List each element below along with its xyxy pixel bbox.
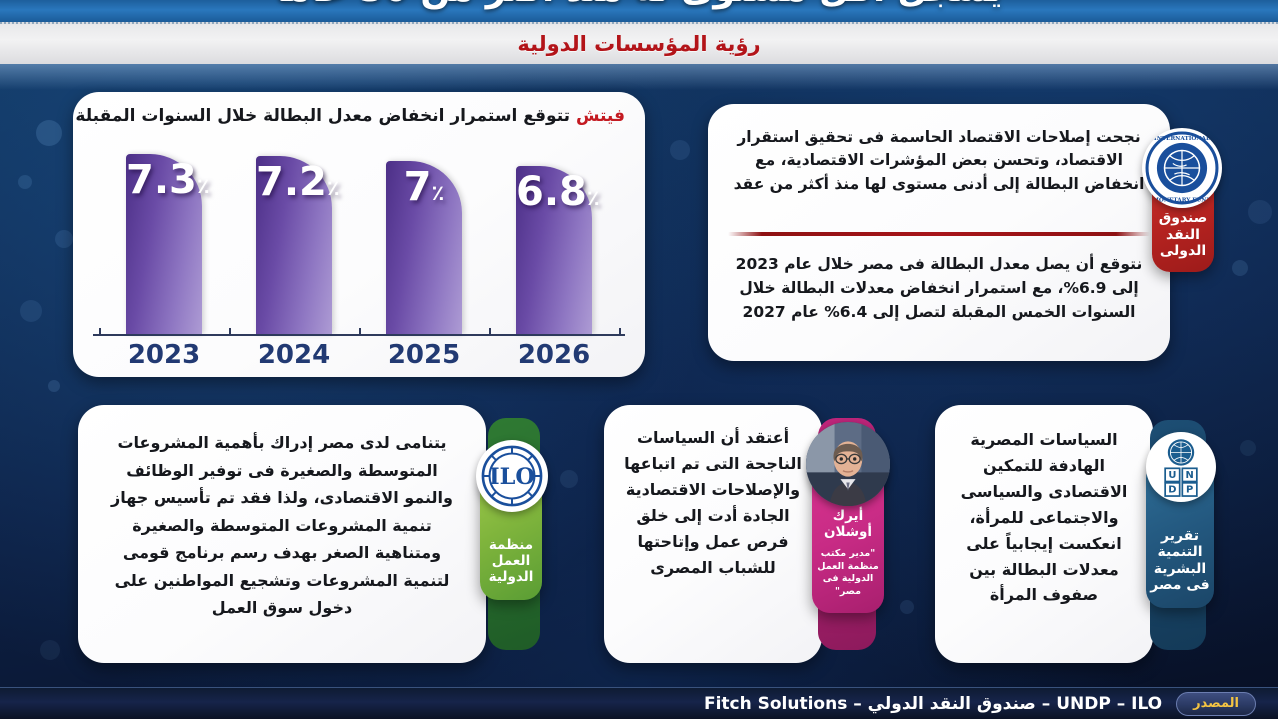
imf-divider [728,232,1150,236]
bar-rect: 6.8٪ [516,166,592,334]
axis-tick [489,328,491,336]
chart-heading-rest: تتوقع استمرار انخفاض معدل البطالة خلال ا… [75,106,576,126]
source-badge: المصدر [1176,692,1256,716]
bokeh-dot [900,600,914,614]
page-title: يسجل أقل مستوى له منذ أكثر من 30 عاماً [0,0,1278,10]
imf-logo: INTERNATIONAL MONETARY FUND [1142,128,1222,208]
chart-bar: 7٪ [386,161,462,334]
svg-text:P: P [1186,485,1193,496]
imf-statement-primary: نجحت إصلاحات الاقتصاد الحاسمة فى تحقيق ا… [730,126,1148,196]
chart-bar: 7.3٪ [126,154,202,334]
header-glow [0,64,1278,90]
axis-tick [359,328,361,336]
quote-statement: أعتقد أن السياسات الناجحة التى تم اتباعه… [620,425,806,580]
chart-heading: فيتش تتوقع استمرار انخفاض معدل البطالة خ… [93,106,625,126]
undp-panel-card: السياسات المصرية الهادفة للتمكين الاقتصا… [935,405,1153,663]
bar-value-label: 7.2٪ [256,162,332,202]
bokeh-dot [40,640,60,660]
bar-rect: 7.2٪ [256,156,332,334]
unemployment-chart-card: فيتش تتوقع استمرار انخفاض معدل البطالة خ… [73,92,645,377]
chart-year-label: 2026 [516,340,592,370]
bokeh-dot [55,230,73,248]
bokeh-dot [1232,260,1248,276]
axis-tick [619,328,621,336]
bar-chart-plot: 7.3٪7.2٪7٪6.8٪ [99,140,619,334]
bokeh-dot [48,380,60,392]
svg-text:ILO: ILO [489,464,535,490]
footer-source-bar: المصدر UNDP – ILO – صندوق النقد الدولي –… [0,687,1278,719]
chart-year-labels: 2023202420252026 [99,340,619,374]
axis-tick [229,328,231,336]
subtitle-band: رؤية المؤسسات الدولية [0,22,1278,64]
header-title-band: يسجل أقل مستوى له منذ أكثر من 30 عاماً [0,0,1278,22]
source-text: UNDP – ILO – صندوق النقد الدولي – Fitch … [704,694,1162,714]
undp-statement: السياسات المصرية الهادفة للتمكين الاقتصا… [951,427,1137,608]
avatar [806,422,890,506]
bar-value-label: 7٪ [386,167,462,207]
svg-text:U: U [1168,470,1176,481]
quote-panel-card: أعتقد أن السياسات الناجحة التى تم اتباعه… [604,405,822,663]
bokeh-dot [560,470,578,488]
chart-year-label: 2024 [256,340,332,370]
page-subtitle: رؤية المؤسسات الدولية [517,32,760,56]
bokeh-dot [18,175,32,189]
axis-tick [99,328,101,336]
chart-bar: 7.2٪ [256,156,332,334]
bar-value-label: 6.8٪ [516,172,592,212]
imf-panel-card: نجحت إصلاحات الاقتصاد الحاسمة فى تحقيق ا… [708,104,1170,361]
bar-rect: 7٪ [386,161,462,334]
ilo-logo: ILO [476,440,548,512]
person-name: أيرك أوشلان [812,509,884,541]
bokeh-dot [670,140,690,160]
chart-year-label: 2023 [126,340,202,370]
svg-text:N: N [1185,470,1193,481]
ilo-statement: يتنامى لدى مصر إدراك بأهمية المشروعات ال… [100,429,464,622]
chart-bar: 6.8٪ [516,166,592,334]
bokeh-dot [1240,440,1256,456]
imf-statement-secondary: نتوقع أن يصل معدل البطالة فى مصر خلال عا… [730,252,1148,324]
person-role: "مدير مكتب منظمة العمل الدولية فى مصر" [812,548,884,599]
bar-rect: 7.3٪ [126,154,202,334]
svg-text:D: D [1168,485,1176,496]
imf-badge-label: صندوق النقد الدولى [1152,210,1214,260]
svg-text:INTERNATIONAL: INTERNATIONAL [1154,136,1210,142]
bokeh-dot [20,300,42,322]
ilo-panel-card: يتنامى لدى مصر إدراك بأهمية المشروعات ال… [78,405,486,663]
chart-year-label: 2025 [386,340,462,370]
bar-value-label: 7.3٪ [126,160,202,200]
undp-logo: UN DP [1146,432,1216,502]
bokeh-dot [36,120,62,146]
undp-badge-label: تقرير التنمية البشرية فى مصر [1146,528,1214,594]
ilo-badge-label: منظمة العمل الدولية [480,538,542,586]
chart-heading-brand: فيتش [576,106,625,126]
bokeh-dot [1248,200,1272,224]
